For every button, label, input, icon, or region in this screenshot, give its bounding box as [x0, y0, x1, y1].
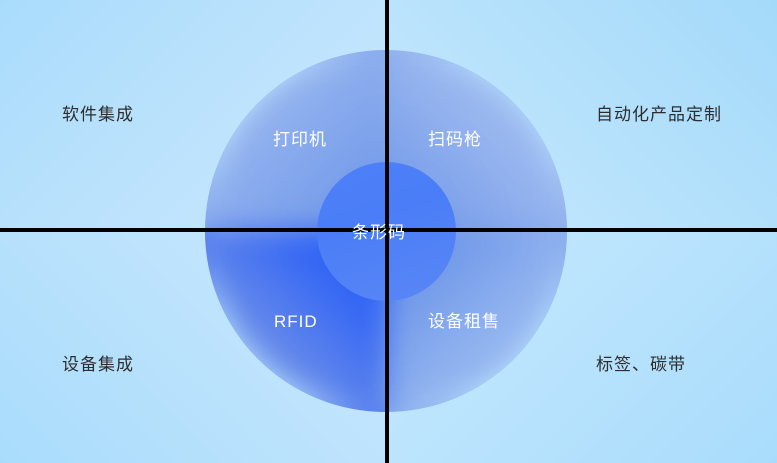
outer-label-top-left: 软件集成 [62, 106, 134, 123]
diagram-canvas: 软件集成 自动化产品定制 设备集成 标签、碳带 打印机 扫码枪 RFID 设备租… [0, 0, 777, 463]
outer-label-bottom-left: 设备集成 [62, 356, 134, 373]
outer-label-top-right: 自动化产品定制 [596, 106, 722, 123]
ring-label-equipment-rental: 设备租售 [428, 313, 500, 330]
ring-label-scanner: 扫码枪 [428, 131, 482, 148]
ring-label-printer: 打印机 [273, 131, 327, 148]
center-label-barcode: 条形码 [352, 224, 406, 241]
outer-label-bottom-right: 标签、碳带 [596, 356, 686, 373]
ring-label-rfid: RFID [274, 313, 318, 330]
